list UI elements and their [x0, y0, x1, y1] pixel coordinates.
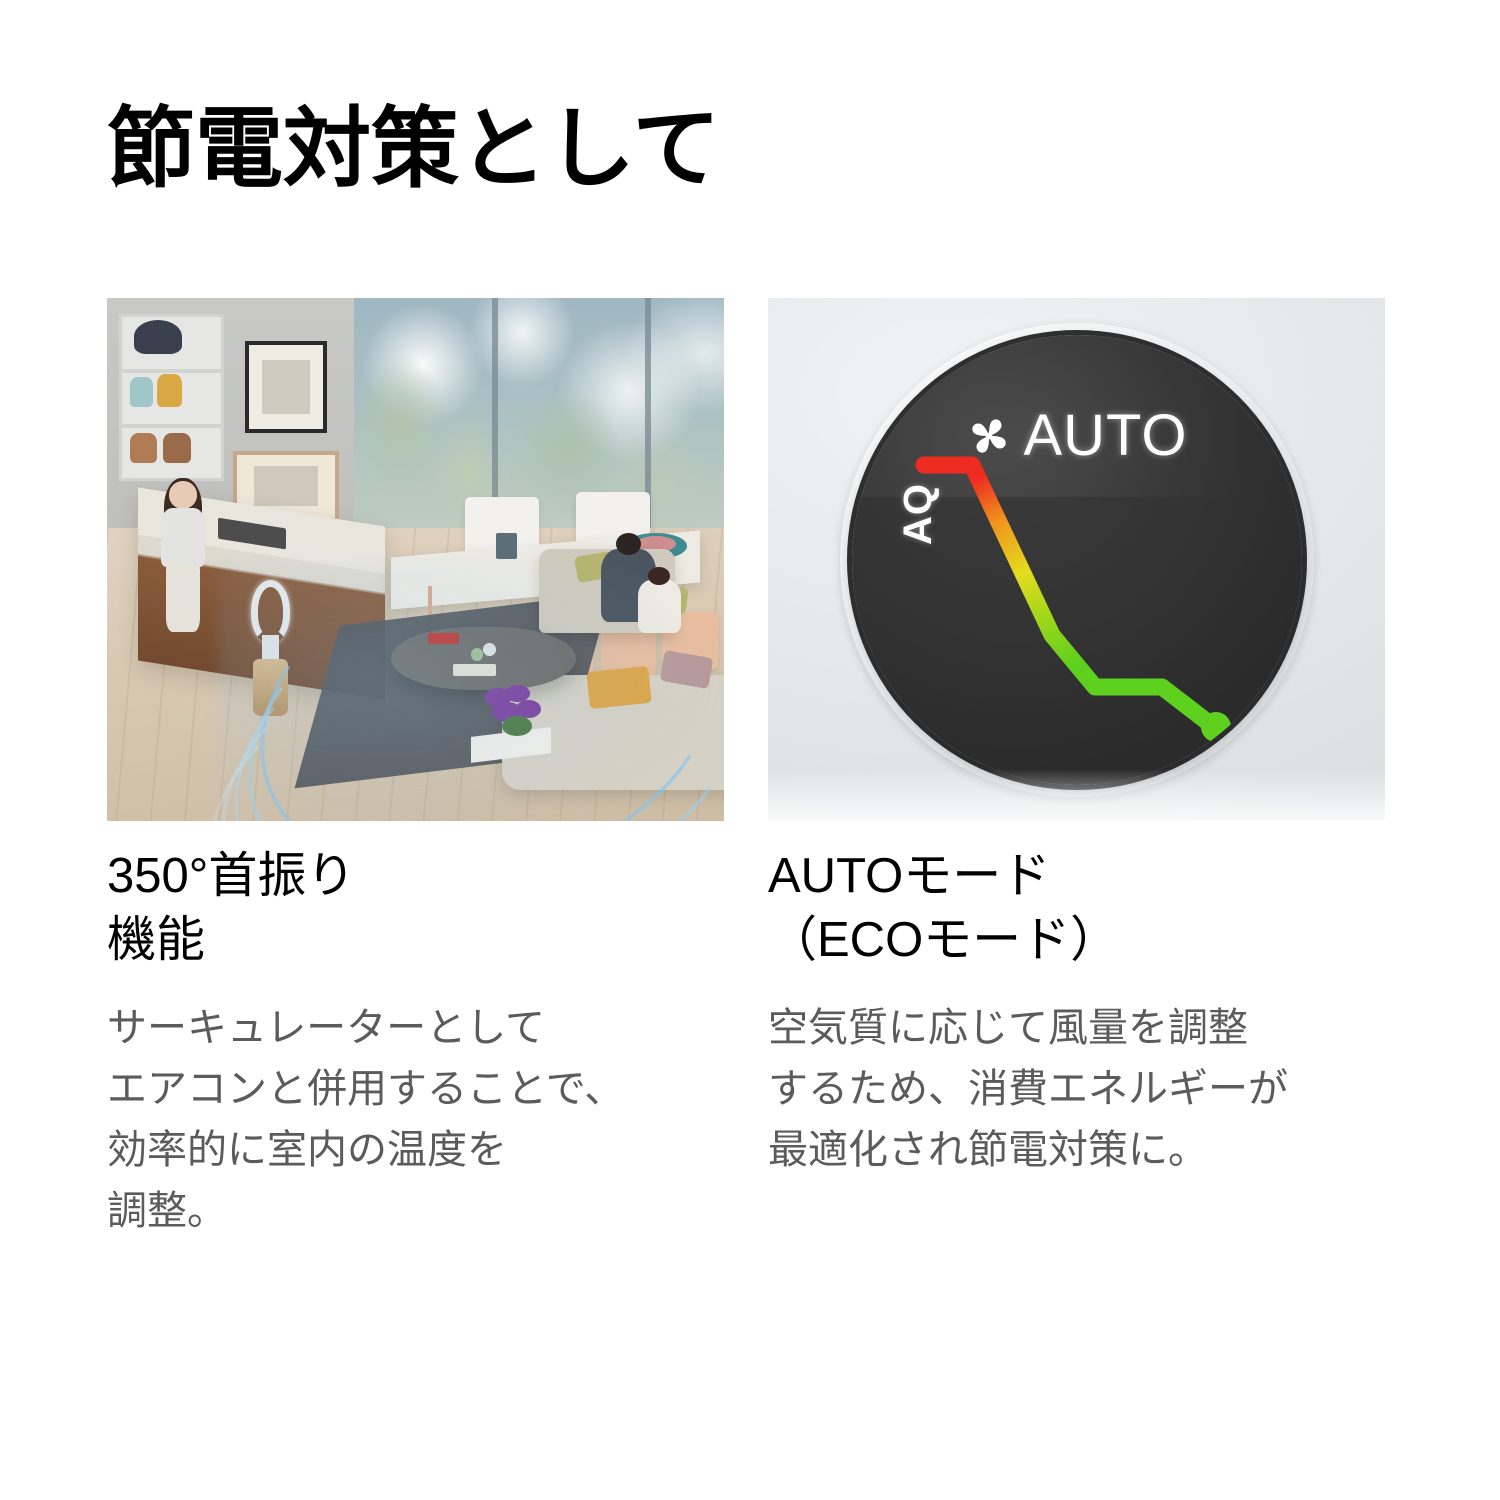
mug: [483, 643, 495, 656]
legs: [166, 563, 199, 632]
aq-trend-line: [924, 465, 1214, 727]
shelf-object: [163, 433, 190, 463]
appliance-panel: AUTO AQ: [768, 298, 1385, 821]
caption-heading: AUTOモード （ECOモード）: [768, 845, 1385, 972]
air-quality-chart: [852, 335, 1302, 785]
caption-auto-mode: AUTOモード （ECOモード） 空気質に応じて風量を調整 するため、消費エネル…: [768, 845, 1385, 1181]
person-woman: [156, 481, 212, 638]
cushion: [587, 666, 652, 709]
book: [453, 664, 496, 676]
book: [428, 633, 459, 645]
feature-column-auto-mode: AUTO AQ: [768, 298, 1385, 821]
page-title: 節電対策として: [107, 100, 720, 199]
frame-artwork: [254, 466, 317, 506]
dyson-fan: [243, 580, 299, 716]
foliage: [502, 716, 532, 736]
cup: [496, 533, 518, 559]
caption-body: 空気質に応じて風量を調整 するため、消費エネルギーが 最適化され節電対策に。: [768, 998, 1385, 1180]
fan-base: [253, 659, 289, 716]
auto-dial-photo: AUTO AQ: [768, 298, 1385, 821]
caption-heading: 350°首振り 機能: [107, 845, 724, 972]
wall-picture-frame: [249, 345, 323, 429]
caption-oscillation: 350°首振り 機能 サーキュレーターとして エアコンと併用することで、 効率的…: [107, 845, 724, 1242]
lcd-display: AUTO AQ: [852, 335, 1302, 785]
aq-current-marker: [1201, 712, 1231, 742]
feature-column-oscillation: 350°首振り 機能 サーキュレーターとして エアコンと併用することで、 効率的…: [107, 298, 724, 821]
product-feature-page: 節電対策として: [0, 0, 1500, 1500]
shelf-object: [134, 320, 182, 353]
shelf-object: [130, 433, 157, 463]
room-scene: [107, 298, 724, 821]
shelf-object: [130, 377, 153, 407]
caption-body: サーキュレーターとして エアコンと併用することで、 効率的に室内の温度を 調整。: [107, 998, 724, 1241]
room-photo: [107, 298, 724, 821]
flower-arrangement: [477, 685, 551, 743]
coffee-table: [391, 627, 576, 690]
shelving-unit: [119, 314, 224, 481]
person-child: [638, 580, 681, 632]
fan-loop-amplifier: [251, 580, 291, 643]
shelf-object: [157, 374, 182, 407]
torso: [161, 508, 205, 568]
frame-artwork: [262, 360, 309, 414]
